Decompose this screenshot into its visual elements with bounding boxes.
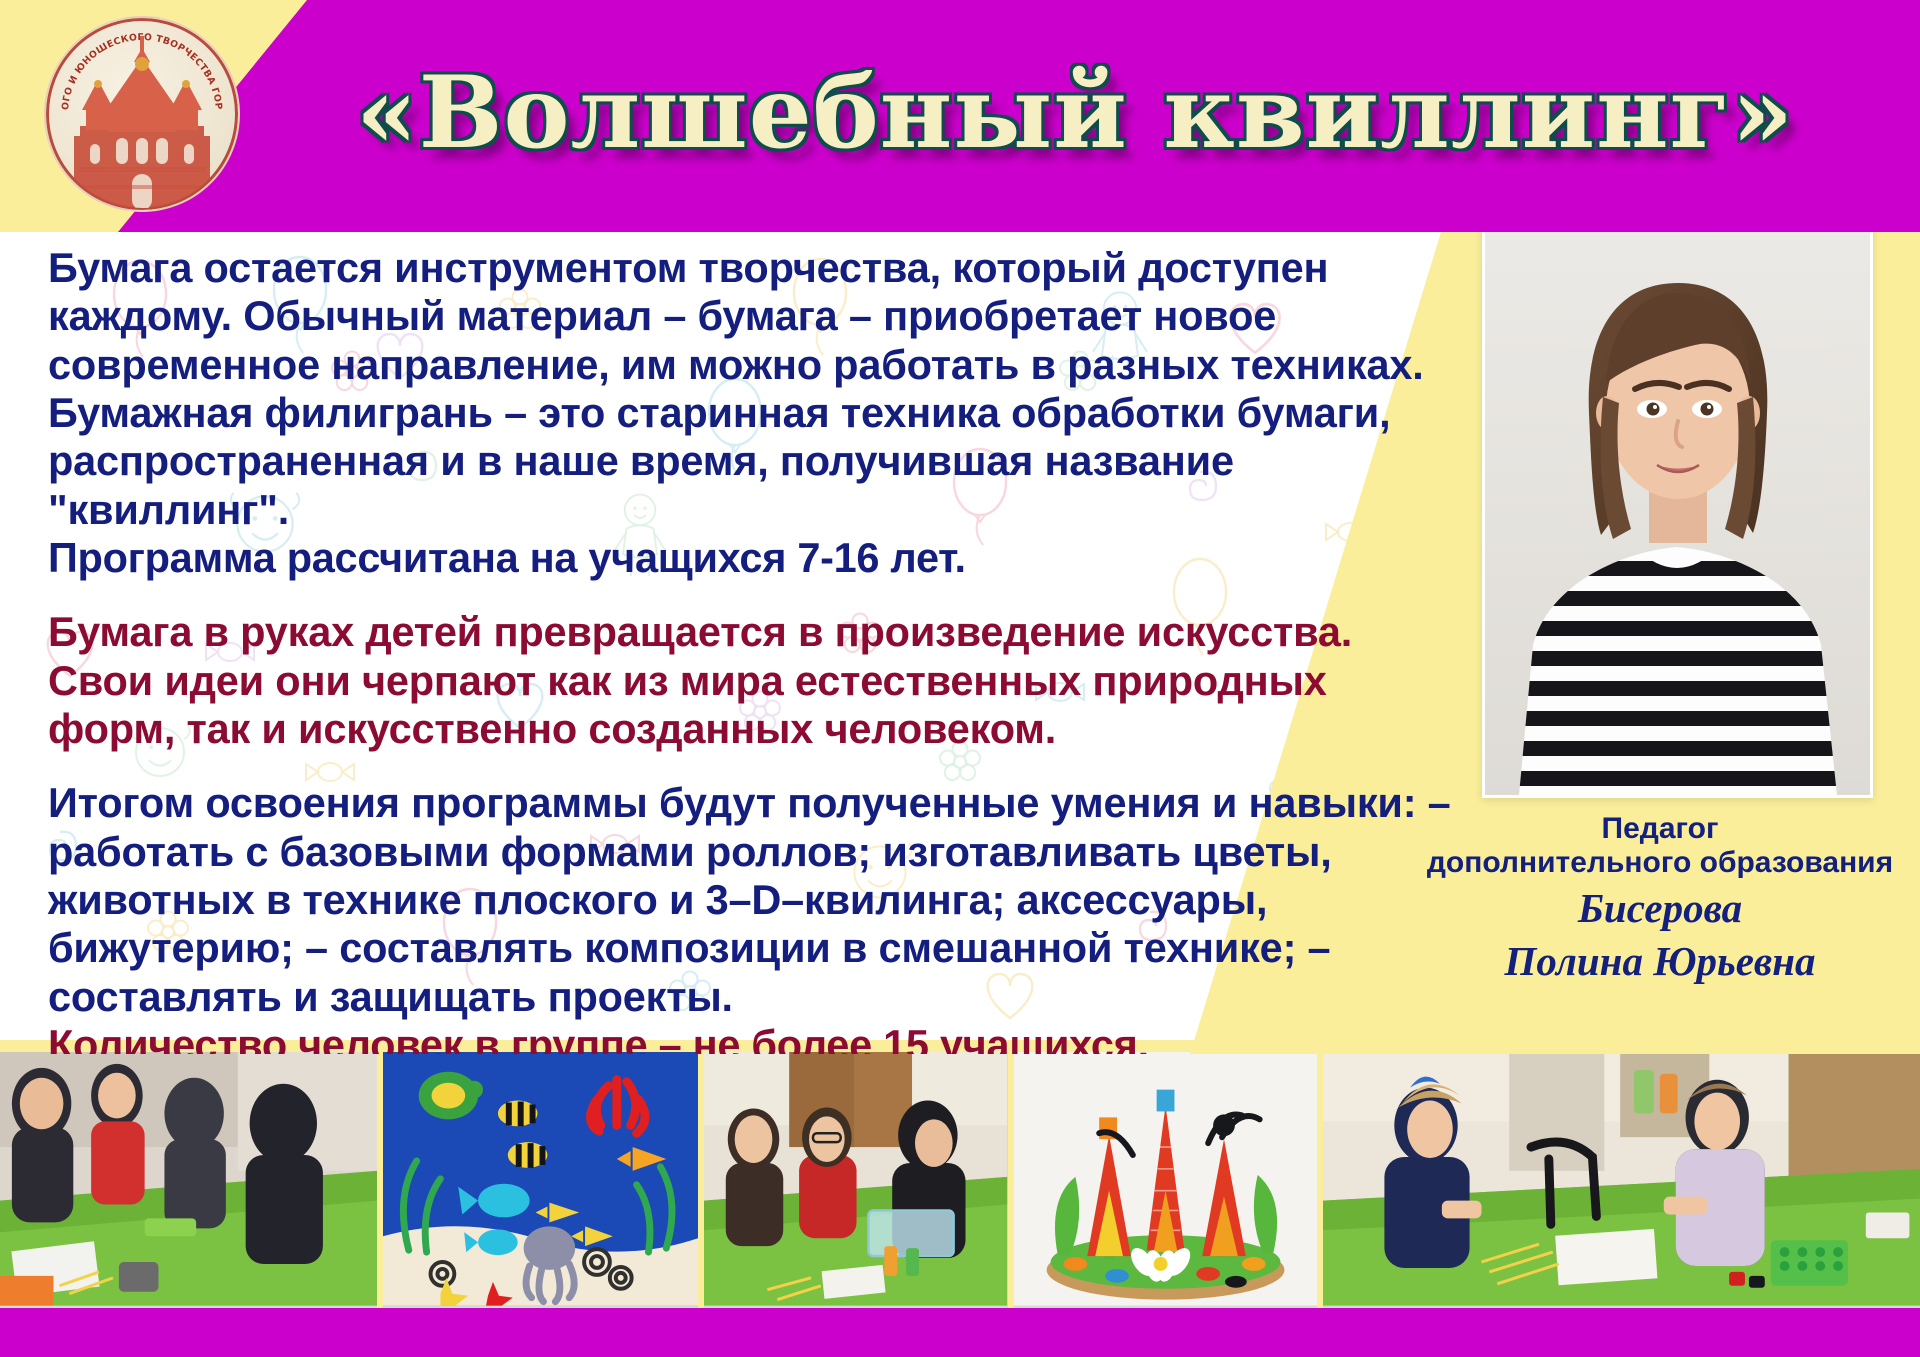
- gallery-photo-3: [704, 1052, 1007, 1308]
- poster-header: ДВОРЕЦ ДЕТСКОГО И ЮНОШЕСКОГО ТВОРЧЕСТВА …: [0, 0, 1920, 232]
- teacher-credit: Педагог дополнительного образования Бисе…: [1400, 812, 1920, 985]
- gallery-photo-4: [1014, 1052, 1317, 1308]
- teacher-role-line2: дополнительного образования: [1400, 846, 1920, 880]
- page-title: «Волшебный квиллинг»: [356, 64, 1794, 163]
- group-size-highlight: Количество человек в группе – не более 1…: [48, 1021, 1453, 1054]
- main-text-column: Бумага остается инструментом творчества,…: [48, 244, 1453, 1054]
- paragraph-outcomes-text: Итогом освоения программы будут полученн…: [48, 779, 1451, 1019]
- poster-root: ДВОРЕЦ ДЕТСКОГО И ЮНОШЕСКОГО ТВОРЧЕСТВА …: [0, 0, 1920, 1357]
- bottom-magenta-bar: [0, 1308, 1920, 1357]
- quilling-flower-composition-image: [1014, 1052, 1317, 1306]
- underwater-quilling-artwork-image: [383, 1052, 698, 1306]
- poster-body: Бумага остается инструментом творчества,…: [0, 232, 1920, 1054]
- teacher-photo: [1482, 232, 1873, 798]
- photo-gallery-row: [0, 1052, 1920, 1308]
- teacher-role-line1: Педагог: [1400, 812, 1920, 846]
- gallery-photo-2: [383, 1052, 698, 1308]
- two-girls-quilling-desk-image: [1323, 1052, 1920, 1306]
- paragraph-creativity: Бумага в руках детей превращается в прои…: [48, 608, 1453, 753]
- students-working-at-table-image: [0, 1052, 377, 1306]
- organization-logo: ДВОРЕЦ ДЕТСКОГО И ЮНОШЕСКОГО ТВОРЧЕСТВА …: [44, 16, 240, 212]
- title-container: «Волшебный квиллинг»: [255, 34, 1895, 192]
- photo-gallery-strip: [0, 1040, 1920, 1308]
- age-range-highlight: Программа рассчитана на учащихся 7-16 ле…: [48, 534, 1453, 582]
- paragraph-intro: Бумага остается инструментом творчества,…: [48, 244, 1453, 582]
- teacher-firstname-patronymic: Полина Юрьевна: [1400, 938, 1920, 985]
- gallery-photo-5: [1323, 1052, 1920, 1308]
- teacher-surname: Бисерова: [1400, 885, 1920, 932]
- cathedral-building-icon: ДВОРЕЦ ДЕТСКОГО И ЮНОШЕСКОГО ТВОРЧЕСТВА …: [46, 18, 238, 210]
- paragraph-intro-text: Бумага остается инструментом творчества,…: [48, 244, 1424, 533]
- gallery-photo-1: [0, 1052, 377, 1308]
- teacher-portrait-illustration: [1485, 232, 1870, 795]
- paragraph-outcomes: Итогом освоения программы будут полученн…: [48, 779, 1453, 1054]
- children-quilling-classroom-image: [704, 1052, 1007, 1306]
